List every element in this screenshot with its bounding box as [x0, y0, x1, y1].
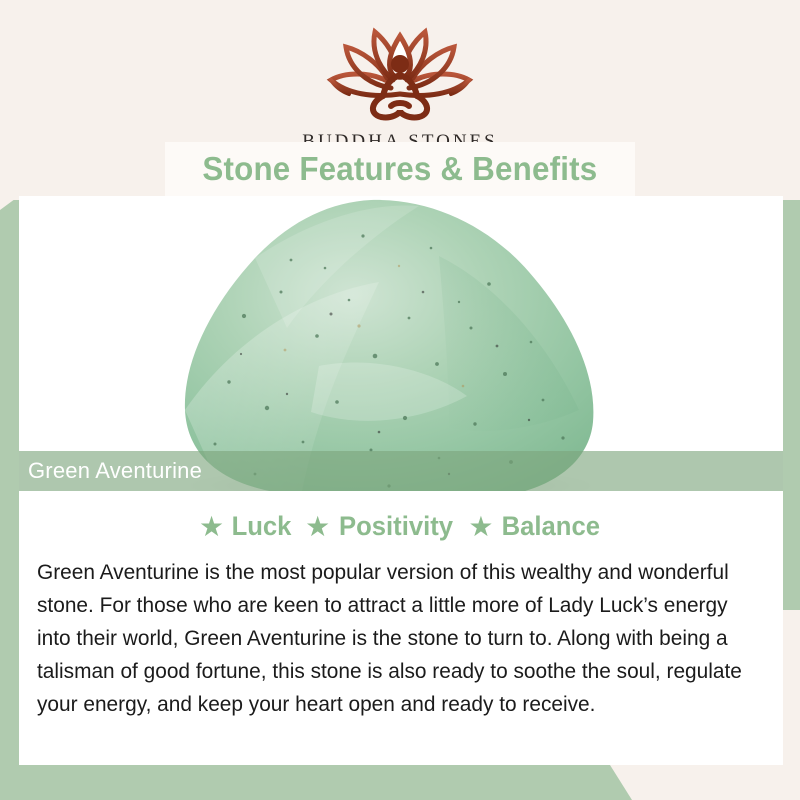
- infographic-page: BUDDHA STONES Stone Features & Benefits: [0, 0, 800, 800]
- star-icon: ★: [199, 513, 224, 541]
- page-title: Stone Features & Benefits: [203, 150, 598, 188]
- benefit-label: Luck: [232, 511, 292, 542]
- body-panel: ★ Luck ★ Positivity ★ Balance Green Aven…: [19, 491, 783, 765]
- benefit-item-positivity: ★ Positivity: [305, 511, 456, 542]
- benefit-label: Positivity: [339, 511, 453, 542]
- stone-name-bar: Green Aventurine: [19, 451, 783, 491]
- benefits-row: ★ Luck ★ Positivity ★ Balance: [19, 511, 783, 542]
- frame-left-band: [0, 196, 19, 800]
- brand-logo: BUDDHA STONES: [0, 22, 800, 153]
- title-banner: Stone Features & Benefits: [165, 142, 635, 196]
- star-icon: ★: [468, 513, 493, 541]
- frame-bottom-band: [0, 765, 800, 800]
- benefit-item-luck: ★ Luck: [199, 511, 293, 542]
- stone-name-label: Green Aventurine: [28, 458, 202, 484]
- benefit-label: Balance: [502, 511, 600, 542]
- lotus-meditation-icon: [305, 22, 495, 127]
- star-icon: ★: [305, 513, 330, 541]
- benefit-item-balance: ★ Balance: [468, 511, 603, 542]
- stone-description: Green Aventurine is the most popular ver…: [37, 556, 743, 721]
